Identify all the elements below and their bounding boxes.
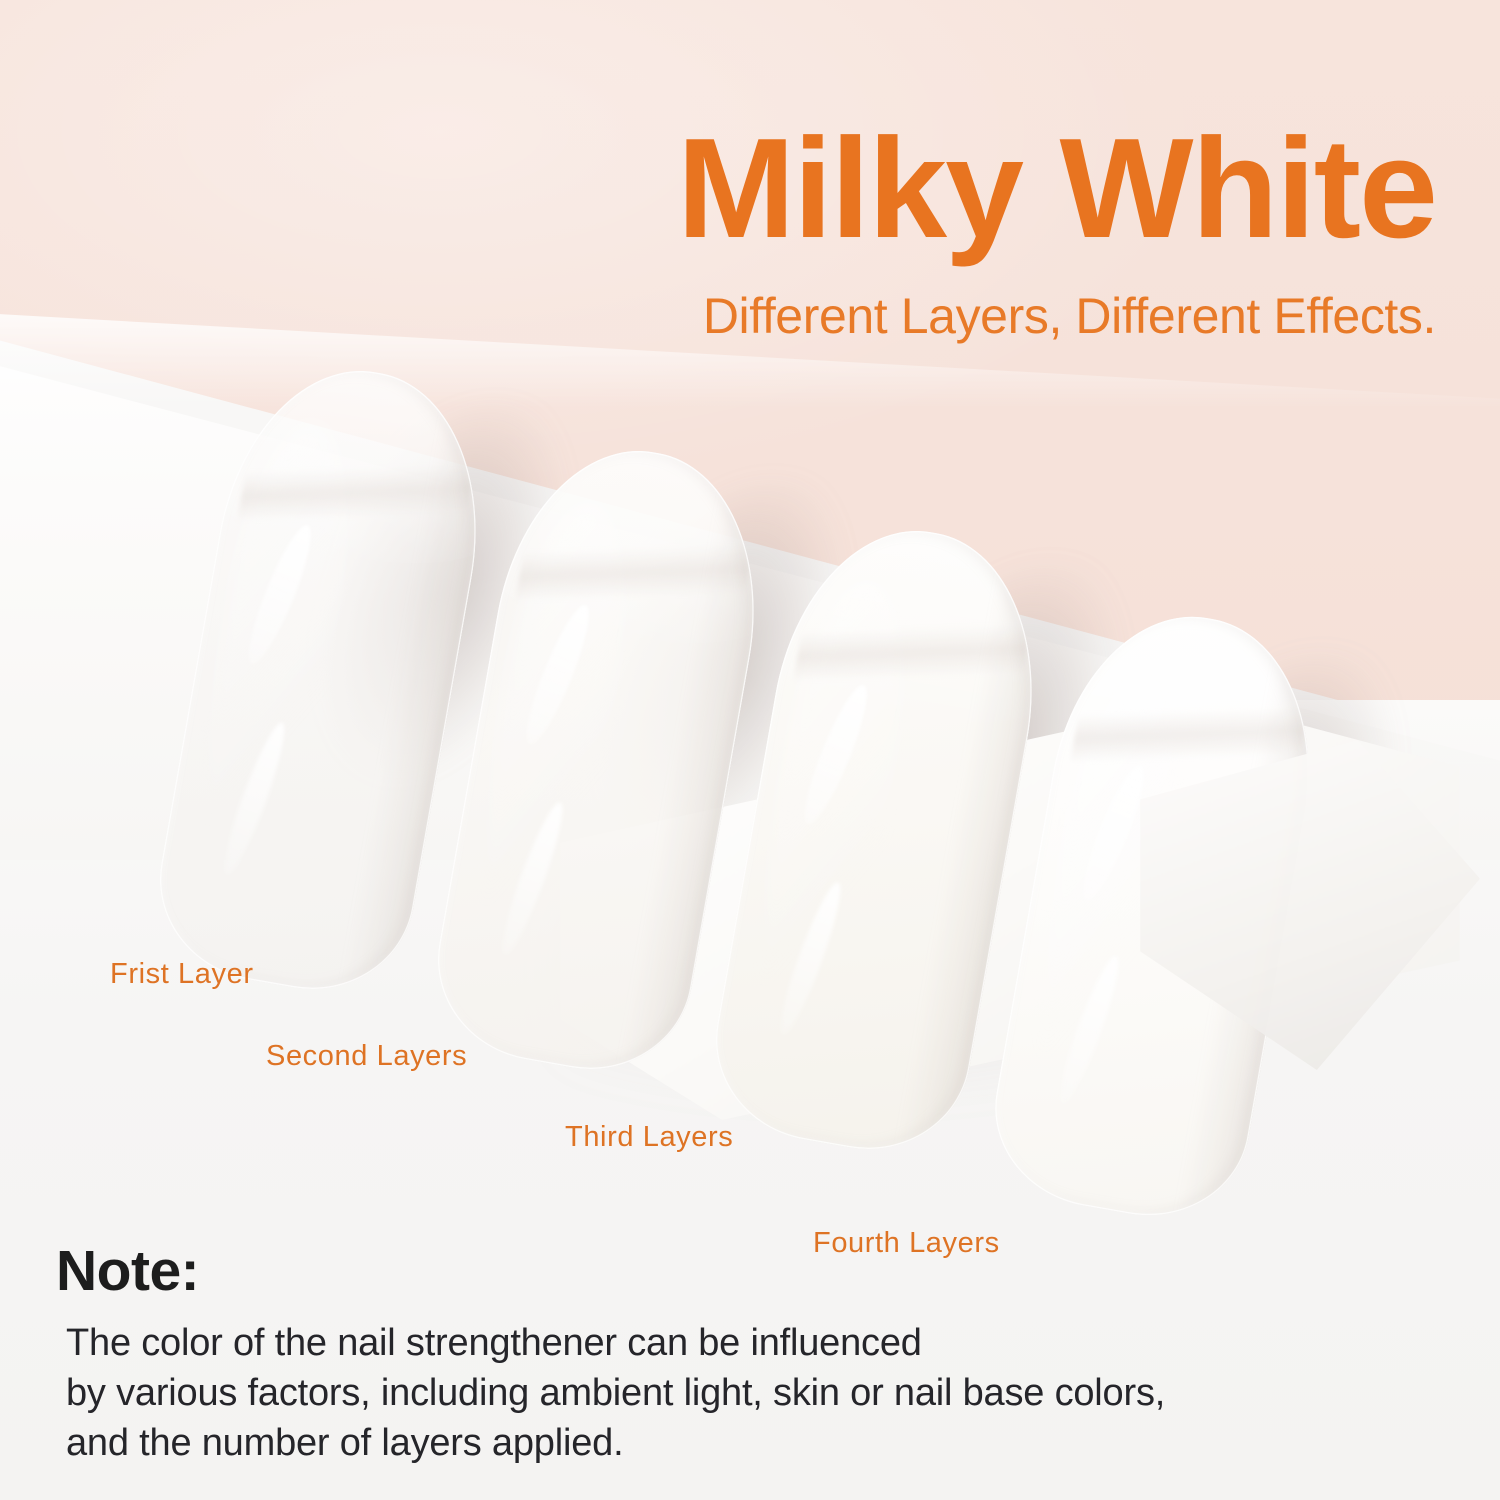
swatch-label-first-layer: Frist Layer <box>110 958 254 991</box>
swatch-label-second-layers: Second Layers <box>266 1040 467 1073</box>
swatch-label-third-layers: Third Layers <box>565 1121 733 1154</box>
page-subtitle: Different Layers, Different Effects. <box>0 287 1436 345</box>
product-infographic: Milky White Different Layers, Different … <box>0 0 1500 1500</box>
note-body-text: The color of the nail strengthener can b… <box>66 1318 1165 1468</box>
page-title: Milky White <box>0 118 1436 260</box>
note-heading: Note: <box>56 1238 199 1304</box>
swatch-label-fourth-layers: Fourth Layers <box>813 1227 1000 1260</box>
